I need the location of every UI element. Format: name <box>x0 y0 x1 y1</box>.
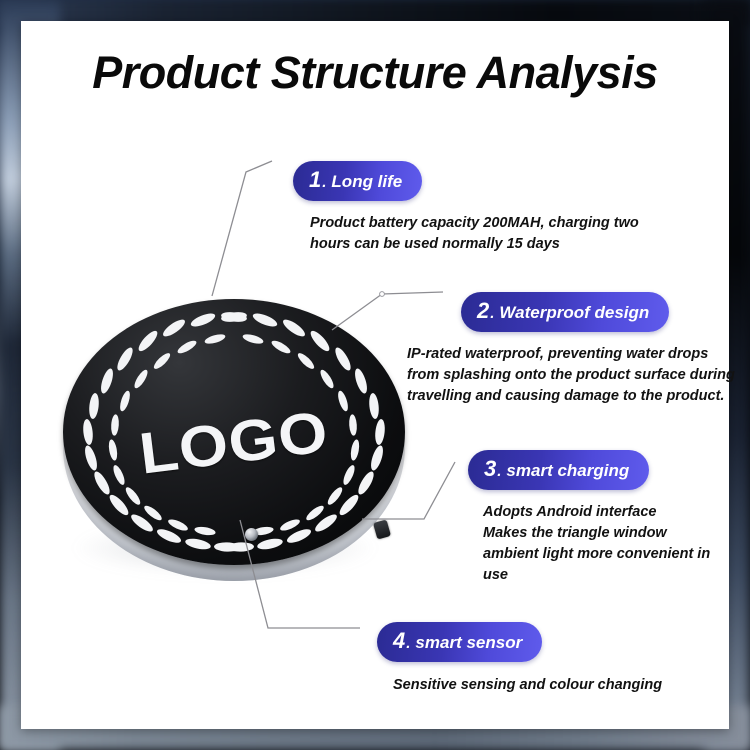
callout-3-badge[interactable]: 3.smart charging <box>468 450 649 490</box>
callout-2-separator: . <box>490 305 494 322</box>
content-card: Product Structure Analysis <box>21 21 729 729</box>
callout-2-badge[interactable]: 2.Waterproof design <box>461 292 669 332</box>
sensor-dot-icon <box>245 528 258 541</box>
product-top-face: LOGO <box>63 299 405 565</box>
callout-4-description: Sensitive sensing and colour changing <box>393 675 693 696</box>
callout-2: 2.Waterproof design IP-rated waterproof,… <box>461 292 750 407</box>
callout-3-number: 3 <box>484 456 496 481</box>
product-image: LOGO <box>45 283 415 593</box>
callout-4-separator: . <box>406 635 410 652</box>
callout-3-description: Adopts Android interface Makes the trian… <box>483 502 735 586</box>
callout-1-description: Product battery capacity 200MAH, chargin… <box>310 213 670 255</box>
callout-1-separator: . <box>322 174 326 191</box>
callout-1-label: Long life <box>331 172 402 191</box>
callout-1: 1.Long life Product battery capacity 200… <box>293 161 670 255</box>
callout-1-badge[interactable]: 1.Long life <box>293 161 422 201</box>
infographic-canvas: Product Structure Analysis <box>0 0 750 750</box>
charging-port-icon <box>373 519 391 539</box>
callout-1-number: 1 <box>309 167 321 192</box>
callout-3-label: smart charging <box>506 461 629 480</box>
callout-4-label: smart sensor <box>415 633 522 652</box>
callout-2-label: Waterproof design <box>499 303 649 322</box>
callout-3-separator: . <box>497 463 501 480</box>
callout-2-description: IP-rated waterproof, preventing water dr… <box>407 344 750 407</box>
page-title: Product Structure Analysis <box>21 49 729 96</box>
callout-2-number: 2 <box>477 298 489 323</box>
callout-3: 3.smart charging Adopts Android interfac… <box>468 450 735 586</box>
callout-4-badge[interactable]: 4.smart sensor <box>377 622 542 662</box>
callout-4-number: 4 <box>393 628 405 653</box>
callout-4: 4.smart sensor Sensitive sensing and col… <box>377 622 693 696</box>
laurel-wreath-icon <box>63 299 405 565</box>
